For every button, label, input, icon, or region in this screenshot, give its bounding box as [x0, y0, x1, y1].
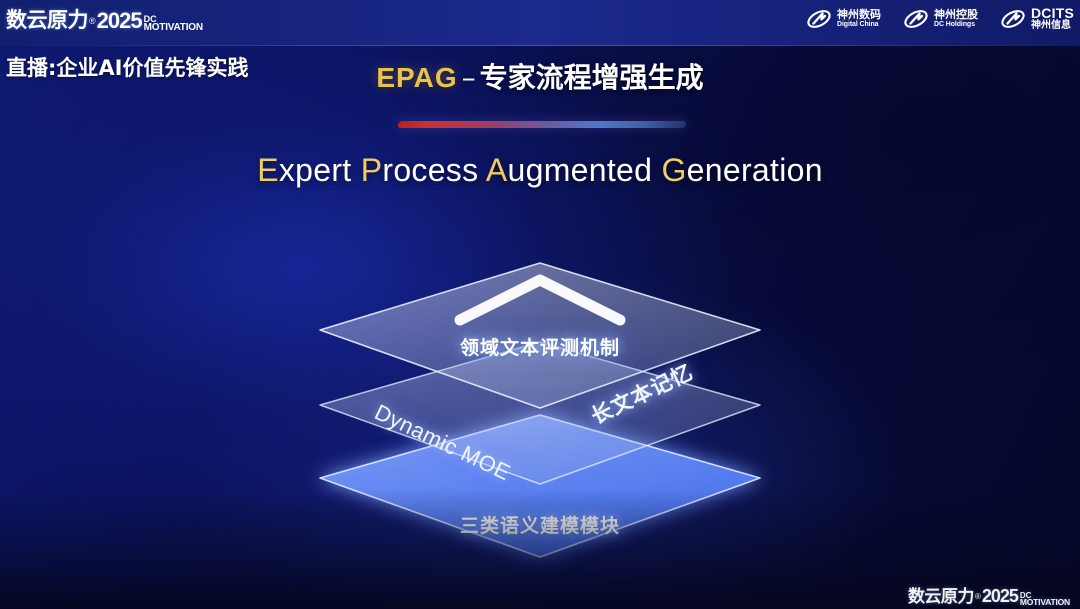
page-subtitle-english: Expert Process Augmented Generation — [0, 152, 1080, 189]
chevron-up-icon — [440, 262, 640, 332]
header-brand-logo: 数云原力 ® 2025 DC MOTIVATION — [6, 4, 203, 34]
english-word-generation: Generation — [661, 152, 822, 188]
footer-brand-dc-motivation: DC MOTIVATION — [1020, 592, 1070, 607]
english-word-process: Process — [361, 152, 479, 188]
brand-registered-mark: ® — [89, 16, 96, 26]
title-chinese: 专家流程增强生成 — [480, 61, 704, 94]
logo-dcits-text: DCITS 神州信息 — [1031, 6, 1074, 31]
logo-digital-china-text: 神州数码 Digital China — [837, 9, 881, 28]
brand-dc-motivation: DC MOTIVATION — [144, 16, 203, 33]
footer-brand-name-cn: 数云原力 — [908, 582, 974, 607]
logo-label-en: DCITS — [1031, 6, 1074, 21]
title-dash: – — [462, 61, 476, 94]
diagram-side-label-dynamic-moe: Dynamic MOE — [370, 399, 514, 486]
title-divider — [397, 121, 687, 128]
english-word-augmented: Augmented — [486, 152, 652, 188]
logo-dc-holdings: 神州控股 DC Holdings — [903, 7, 978, 31]
page-title: EPAG–专家流程增强生成 — [0, 56, 1080, 96]
swoosh-logo-icon — [903, 7, 929, 31]
logo-label-en: Digital China — [837, 21, 881, 28]
logo-label-cn: 神州控股 — [934, 9, 978, 21]
footer-brand-registered-mark: ® — [975, 592, 981, 601]
swoosh-logo-icon — [1000, 7, 1026, 31]
logo-label-cn: 神州数码 — [837, 9, 881, 21]
slide-canvas: 数云原力 ® 2025 DC MOTIVATION 神州数码 Digital C… — [0, 0, 1080, 609]
logo-dcits: DCITS 神州信息 — [1000, 6, 1074, 31]
partner-logo-group: 神州数码 Digital China 神州控股 DC Holdings — [806, 6, 1074, 31]
diagram-side-label-long-context: 长文本记忆 — [586, 356, 698, 430]
logo-dc-holdings-text: 神州控股 DC Holdings — [934, 9, 978, 28]
logo-digital-china: 神州数码 Digital China — [806, 7, 881, 31]
footer-brand-watermark: 数云原力 ® 2025 DC MOTIVATION — [908, 582, 1070, 607]
diagram-layer-middle — [305, 338, 775, 488]
diagram-layer-top — [305, 258, 775, 413]
title-acronym: EPAG — [376, 62, 457, 93]
header-bar: 数云原力 ® 2025 DC MOTIVATION 神州数码 Digital C… — [0, 0, 1080, 46]
logo-label-cn: 神州信息 — [1031, 21, 1074, 32]
footer-brand-dc-line2: MOTIVATION — [1020, 599, 1070, 606]
footer-brand-year: 2025 — [982, 586, 1018, 607]
english-word-expert: Expert — [257, 152, 351, 188]
brand-name-cn: 数云原力 — [6, 4, 88, 34]
brand-year: 2025 — [97, 8, 142, 34]
swoosh-logo-icon — [806, 7, 832, 31]
logo-label-en: DC Holdings — [934, 21, 978, 28]
diagram-layer-top-label: 领域文本评测机制 — [460, 333, 620, 360]
brand-dc-line2: MOTIVATION — [144, 24, 203, 33]
